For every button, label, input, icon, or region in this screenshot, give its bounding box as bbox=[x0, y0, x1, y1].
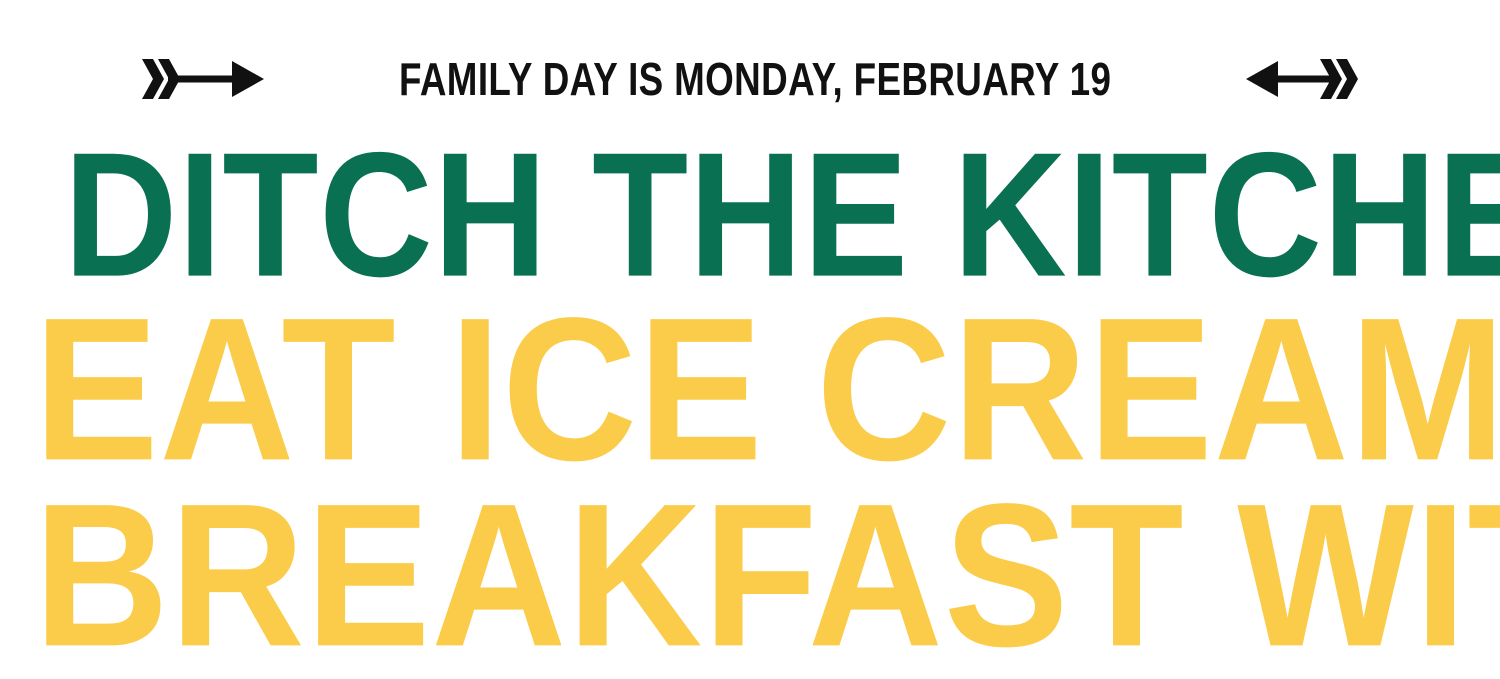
double-chevron-arrow-right-icon bbox=[142, 53, 264, 105]
eyebrow-row: FAMILY DAY IS MONDAY, FEBRUARY 19 bbox=[0, 44, 1500, 114]
double-chevron-arrow-left-icon bbox=[1246, 53, 1358, 105]
eyebrow-date-text: FAMILY DAY IS MONDAY, FEBRUARY 19 bbox=[399, 56, 1111, 102]
promo-banner: FAMILY DAY IS MONDAY, FEBRUARY 19 DITCH … bbox=[0, 0, 1500, 679]
headline-stack: DITCH THE KITCHEN! EAT ICE CREAM FOR BRE… bbox=[0, 140, 1500, 675]
headline-line-3: BREAKFAST WITH US! bbox=[34, 486, 1467, 678]
